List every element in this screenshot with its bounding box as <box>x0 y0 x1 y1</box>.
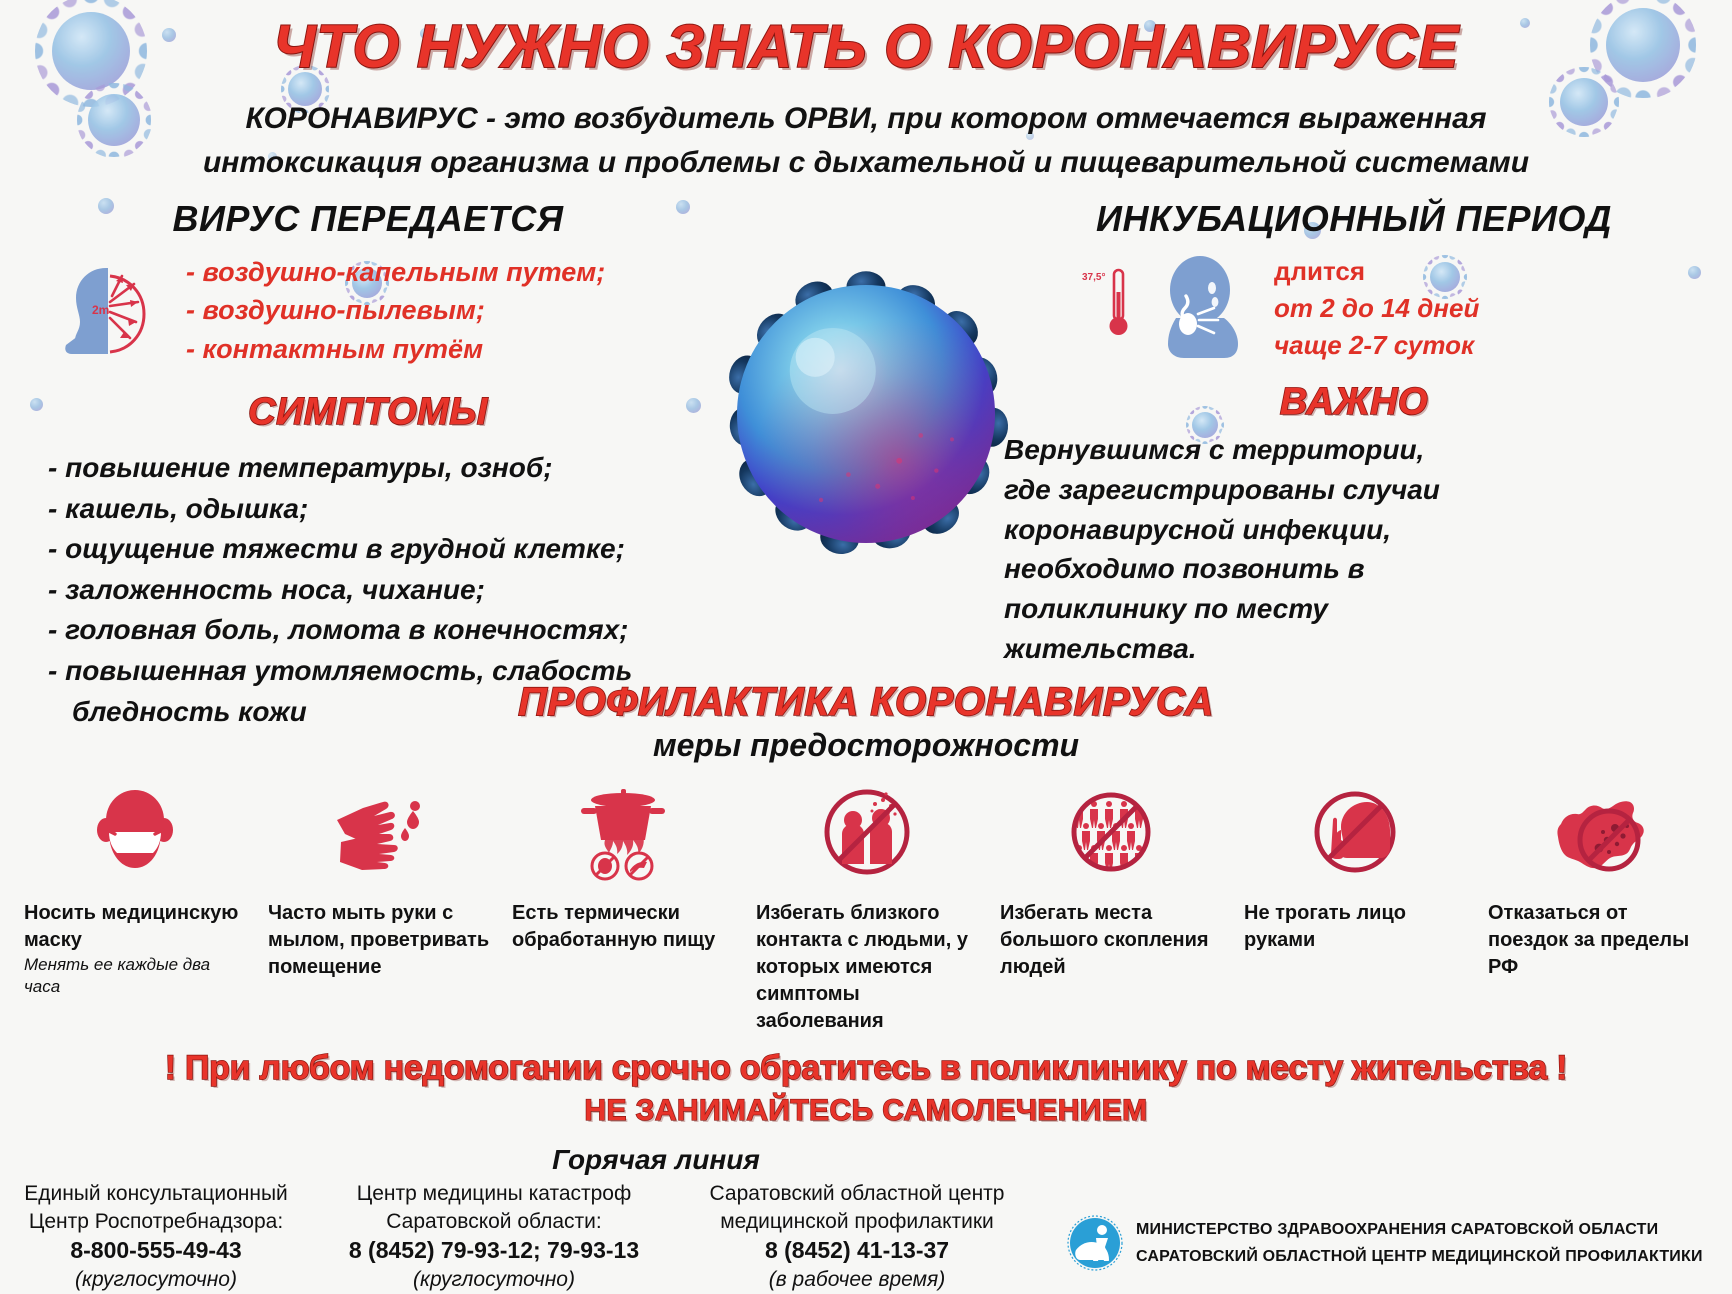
contact-name-line: Центр Роспотребнадзора: <box>6 1208 306 1236</box>
fever-thermometer-icon: 37,5° <box>1082 258 1134 359</box>
prevention-caption: Часто мыть руки с мылом, проветривать по… <box>268 900 490 981</box>
symptom-item: - повышение температуры, озноб; <box>48 448 688 489</box>
symptom-item-continuation: бледность кожи <box>48 692 688 733</box>
incubation-line: от 2 до 14 дней <box>1274 290 1479 327</box>
important-line: коронавирусной инфекции, <box>1004 510 1704 550</box>
middle-section: ВИРУС ПЕРЕДАЕТСЯ <box>0 198 1732 678</box>
cooked-food-icon <box>512 778 734 886</box>
contact-phone[interactable]: 8-800-555-49-43 <box>6 1235 306 1265</box>
urgent-alert-line-1: ! При любом недомогании срочно обратитес… <box>0 1049 1732 1088</box>
ministry-block: МИНИСТЕРСТВО ЗДРАВООХРАНЕНИЯ САРАТОВСКОЙ… <box>1066 1180 1703 1272</box>
incubation-line: чаще 2-7 суток <box>1274 327 1479 364</box>
symptom-item: - заложенность носа, чихание; <box>48 570 688 611</box>
symptom-item: - кашель, одышка; <box>48 489 688 530</box>
distance-label: 2m <box>92 303 109 317</box>
no-crowd-icon <box>1000 778 1222 886</box>
prevention-note: Менять ее каждые два часа <box>24 954 246 998</box>
contact-name-line: Саратовской области: <box>314 1208 674 1236</box>
prevention-item: Есть термически обработанную пищу <box>512 778 734 954</box>
ministry-logo-icon <box>1066 1214 1124 1272</box>
no-sick-contact-icon <box>756 778 978 886</box>
important-line: Вернувшимся с территории, <box>1004 430 1704 470</box>
intro-paragraph: КОРОНАВИРУС - это возбудитель ОРВИ, при … <box>86 97 1646 184</box>
contact-name-line: медицинской профилактики <box>682 1208 1032 1236</box>
important-line: жительства. <box>1004 629 1704 669</box>
incubation-heading: ИНКУБАЦИОННЫЙ ПЕРИОД <box>1004 198 1704 240</box>
no-travel-map-icon <box>1488 778 1710 886</box>
page-title: ЧТО НУЖНО ЗНАТЬ О КОРОНАВИРУСЕ <box>0 0 1732 81</box>
temperature-label: 37,5° <box>1082 272 1105 283</box>
symptom-item: - ощущение тяжести в грудной клетке; <box>48 529 688 570</box>
incubation-duration: длится от 2 до 14 дней чаще 2-7 суток <box>1274 253 1479 364</box>
transmission-item: - воздушно-пылевым; <box>186 291 605 329</box>
left-column: ВИРУС ПЕРЕДАЕТСЯ <box>48 198 688 732</box>
intro-line-2: интоксикация организма и проблемы с дыха… <box>86 141 1646 185</box>
incubation-line: длится <box>1274 253 1479 290</box>
contact-hours: (круглосуточно) <box>6 1266 306 1294</box>
important-line: поликлинику по месту <box>1004 589 1704 629</box>
transmission-list: - воздушно-капельным путем; - воздушно-п… <box>186 253 605 368</box>
coughing-person-icon <box>1152 252 1256 365</box>
contact-phone[interactable]: 8 (8452) 79-93-12; 79-93-13 <box>314 1235 674 1265</box>
prevention-caption: Носить медицинскую маску <box>24 900 246 954</box>
transmission-item: - воздушно-капельным путем; <box>186 253 605 291</box>
prevention-caption: Избегать места большого скопления людей <box>1000 900 1222 981</box>
symptoms-heading: СИМПТОМЫ <box>48 391 688 434</box>
contact-hours: (в рабочее время) <box>682 1266 1032 1294</box>
contact-name-line: Саратовский областной центр <box>682 1180 1032 1208</box>
face-mask-icon <box>24 778 246 886</box>
contact-card: Саратовский областной центр медицинской … <box>682 1180 1032 1294</box>
head-droplet-spread-icon: 2m <box>48 252 168 369</box>
symptom-item: - повышенная утомляемость, слабость <box>48 651 688 692</box>
prevention-caption: Не трогать лицо руками <box>1244 900 1466 954</box>
ministry-text: МИНИСТЕРСТВО ЗДРАВООХРАНЕНИЯ САРАТОВСКОЙ… <box>1136 1216 1703 1270</box>
prevention-caption: Есть термически обработанную пищу <box>512 900 734 954</box>
hand-wash-icon <box>268 778 490 886</box>
prevention-item: Избегать близкого контакта с людьми, у к… <box>756 778 978 1035</box>
important-line: где зарегистрированы случаи <box>1004 470 1704 510</box>
contact-phone[interactable]: 8 (8452) 41-13-37 <box>682 1235 1032 1265</box>
intro-line-1: КОРОНАВИРУС - это возбудитель ОРВИ, при … <box>86 97 1646 141</box>
transmission-item: - контактным путём <box>186 330 605 368</box>
prevention-item: Носить медицинскую маску Менять ее кажды… <box>24 778 246 998</box>
prevention-item: Часто мыть руки с мылом, проветривать по… <box>268 778 490 981</box>
prevention-item: Отказаться от поездок за пределы РФ <box>1488 778 1710 981</box>
ministry-line-1: МИНИСТЕРСТВО ЗДРАВООХРАНЕНИЯ САРАТОВСКОЙ… <box>1136 1216 1703 1243</box>
contact-hours: (круглосуточно) <box>314 1266 674 1294</box>
prevention-caption: Избегать близкого контакта с людьми, у к… <box>756 900 978 1035</box>
contact-name-line: Центр медицины катастроф <box>314 1180 674 1208</box>
transmission-block: 2m - воздушно-капельным путем; - воздушн… <box>48 252 688 369</box>
prophylaxis-subheading: меры предосторожности <box>0 727 1732 764</box>
no-face-touch-icon <box>1244 778 1466 886</box>
symptoms-list: - повышение температуры, озноб; - кашель… <box>48 448 688 732</box>
transmission-heading: ВИРУС ПЕРЕДАЕТСЯ <box>48 198 688 240</box>
contact-name-line: Единый консультационный <box>6 1180 306 1208</box>
contact-card: Единый консультационный Центр Роспотребн… <box>6 1180 306 1294</box>
hotline-heading: Горячая линия <box>0 1144 1732 1176</box>
prevention-measures-row: Носить медицинскую маску Менять ее кажды… <box>0 764 1732 1035</box>
prevention-caption: Отказаться от поездок за пределы РФ <box>1488 900 1710 981</box>
important-text: Вернувшимся с территории, где зарегистри… <box>1004 430 1704 669</box>
incubation-block: 37,5° <box>1004 252 1704 365</box>
symptom-item: - головная боль, ломота в конечностях; <box>48 610 688 651</box>
prevention-item: Не трогать лицо руками <box>1244 778 1466 954</box>
important-line: необходимо позвонить в <box>1004 549 1704 589</box>
contact-card: Центр медицины катастроф Саратовской обл… <box>314 1180 674 1294</box>
right-column: ИНКУБАЦИОННЫЙ ПЕРИОД 37,5° <box>1004 198 1704 669</box>
ministry-line-2: САРАТОВСКИЙ ОБЛАСТНОЙ ЦЕНТР МЕДИЦИНСКОЙ … <box>1136 1243 1703 1270</box>
poster-root: ЧТО НУЖНО ЗНАТЬ О КОРОНАВИРУСЕ КОРОНАВИР… <box>0 0 1732 1235</box>
important-heading: ВАЖНО <box>1004 381 1704 424</box>
prevention-item: Избегать места большого скопления людей <box>1000 778 1222 981</box>
urgent-alert-line-2: НЕ ЗАНИМАЙТЕСЬ САМОЛЕЧЕНИЕМ <box>0 1094 1732 1128</box>
